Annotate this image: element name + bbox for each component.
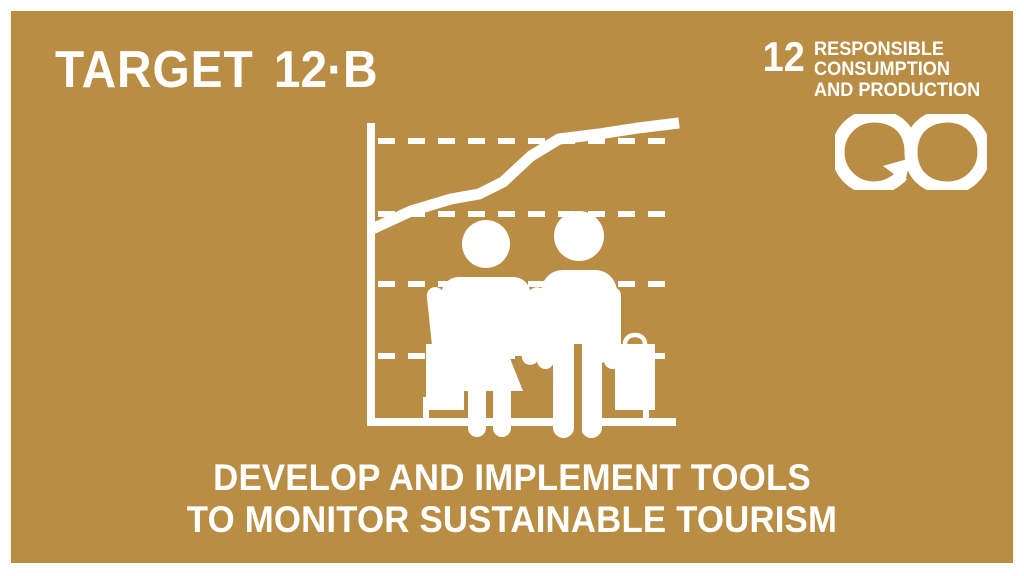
target-label: TARGET [55, 41, 254, 99]
chart-y-axis [367, 123, 375, 426]
poster-root: TARGET12·B 12 RESPONSIBLE CONSUMPTION AN… [0, 0, 1024, 576]
male-arm-left [537, 287, 554, 369]
goal-title-line-3: AND PRODUCTION [814, 80, 980, 100]
male-tourist-figure [537, 211, 621, 438]
goal-title: RESPONSIBLE CONSUMPTION AND PRODUCTION [814, 39, 980, 100]
gold-panel: TARGET12·B 12 RESPONSIBLE CONSUMPTION AN… [11, 11, 1013, 563]
female-leg-left [468, 373, 486, 437]
goal-badge-heading: 12 RESPONSIBLE CONSUMPTION AND PRODUCTIO… [758, 39, 993, 100]
male-leg-right [581, 344, 602, 438]
goal-number: 12 [762, 40, 804, 74]
goal-badge: 12 RESPONSIBLE CONSUMPTION AND PRODUCTIO… [793, 39, 993, 195]
chart-x-axis [367, 418, 676, 426]
female-leg-right [493, 373, 511, 437]
shopping-bag-left [426, 335, 464, 410]
shopping-bag-right [615, 335, 655, 410]
tourism-growth-chart-illustration [351, 111, 696, 441]
goal-title-line-2: CONSUMPTION [814, 59, 980, 79]
page-title: TARGET12·B [55, 44, 378, 96]
target-code: 12·B [274, 41, 378, 99]
caption-line-1: DEVELOP AND IMPLEMENT TOOLS [41, 457, 983, 499]
male-leg-left [553, 344, 574, 438]
male-head [554, 211, 604, 261]
infinity-loop-arrow-icon [835, 114, 987, 195]
caption: DEVELOP AND IMPLEMENT TOOLS TO MONITOR S… [11, 457, 1013, 541]
female-head [462, 220, 510, 268]
caption-line-2: TO MONITOR SUSTAINABLE TOURISM [41, 499, 983, 541]
goal-title-line-1: RESPONSIBLE [814, 39, 980, 59]
